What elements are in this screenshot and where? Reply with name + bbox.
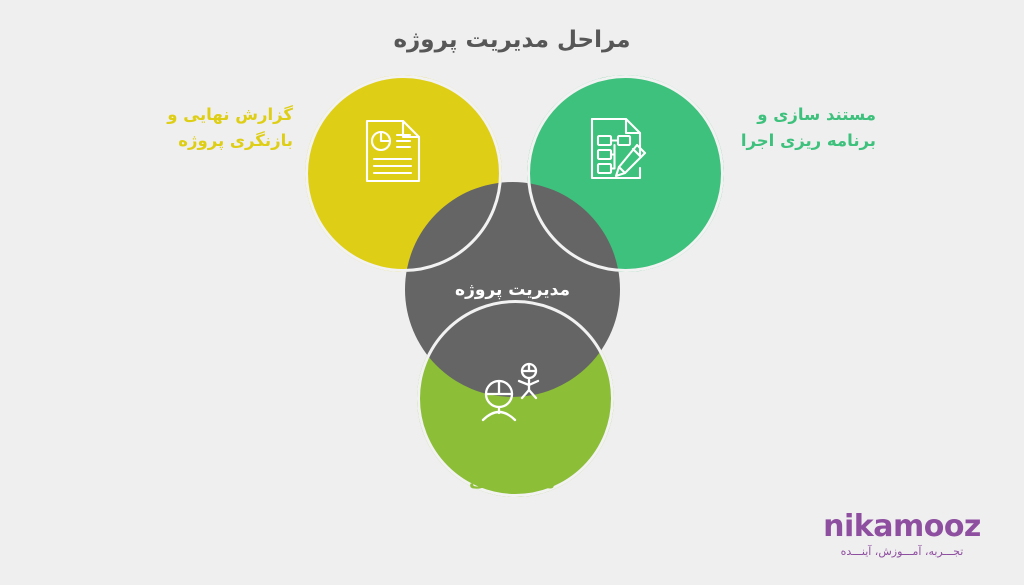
brand-tagline: تجـــربه، آمـــوزش، آینـــده (812, 545, 992, 558)
caption-report-line-1: گزارش نهایی و (153, 102, 293, 128)
brand-logo[interactable]: nikamooz تجـــربه، آمـــوزش، آینـــده (812, 512, 992, 570)
caption-report: گزارش نهایی و بازنگری پروژه (153, 102, 293, 153)
brand-wordmark: nikamooz (812, 512, 992, 542)
caption-monitor: مانیتورینگ (0, 470, 1024, 496)
caption-monitor-line-1: مانیتورینگ (0, 470, 1024, 496)
caption-docs-line-1: مستند سازی و (726, 102, 876, 128)
venn-hub-circle[interactable] (405, 182, 620, 397)
caption-docs: مستند سازی و برنامه ریزی اجرا (726, 102, 876, 153)
slide-canvas: مراحل مدیریت پروژه مدیریت پروژه (0, 0, 1024, 585)
caption-docs-line-2: برنامه ریزی اجرا (726, 128, 876, 154)
venn-diagram: مدیریت پروژه (305, 60, 725, 480)
page-title: مراحل مدیریت پروژه (0, 27, 1024, 53)
caption-report-line-2: بازنگری پروژه (153, 128, 293, 154)
